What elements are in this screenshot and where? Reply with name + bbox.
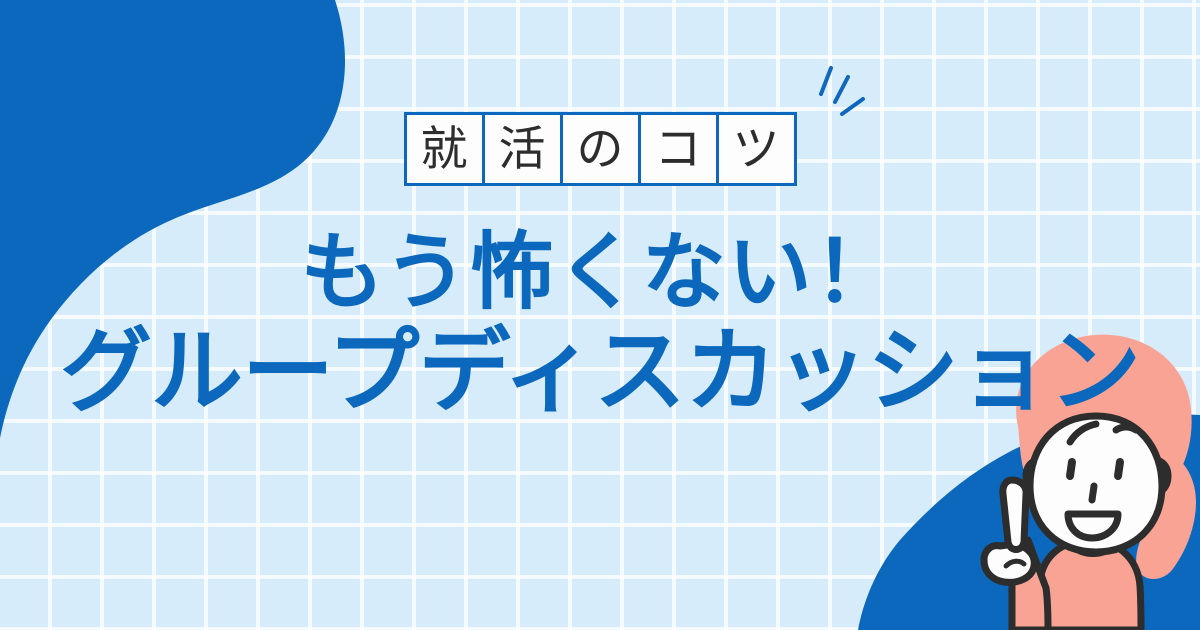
badge-cell-4: コ xyxy=(638,112,719,186)
badge-cell-3: の xyxy=(560,112,641,186)
sparkle-stroke-1 xyxy=(821,68,831,94)
sparkle-lines xyxy=(795,62,865,124)
category-badge: 就 活 の コ ツ xyxy=(0,112,1200,186)
headline-line-1: もう怖くない！ xyxy=(0,224,1200,320)
hair-strand-2 xyxy=(1116,427,1136,430)
badge-cell-5: ツ xyxy=(716,112,797,186)
badge-cell-1: 就 xyxy=(404,112,485,186)
right-eye-icon xyxy=(1118,462,1120,476)
badge-cell-2: 活 xyxy=(482,112,563,186)
banner-canvas: 就 活 の コ ツ もう怖くない！ グループディスカッション xyxy=(0,0,1200,630)
pointing-girl-front-layer xyxy=(900,330,1200,630)
sparkle-stroke-2 xyxy=(835,77,848,102)
index-finger-shape xyxy=(1003,480,1026,550)
nose-icon xyxy=(1092,486,1094,500)
mouth-icon xyxy=(1068,514,1118,538)
left-eye-icon xyxy=(1070,462,1072,476)
sparkle-stroke-3 xyxy=(842,99,863,114)
